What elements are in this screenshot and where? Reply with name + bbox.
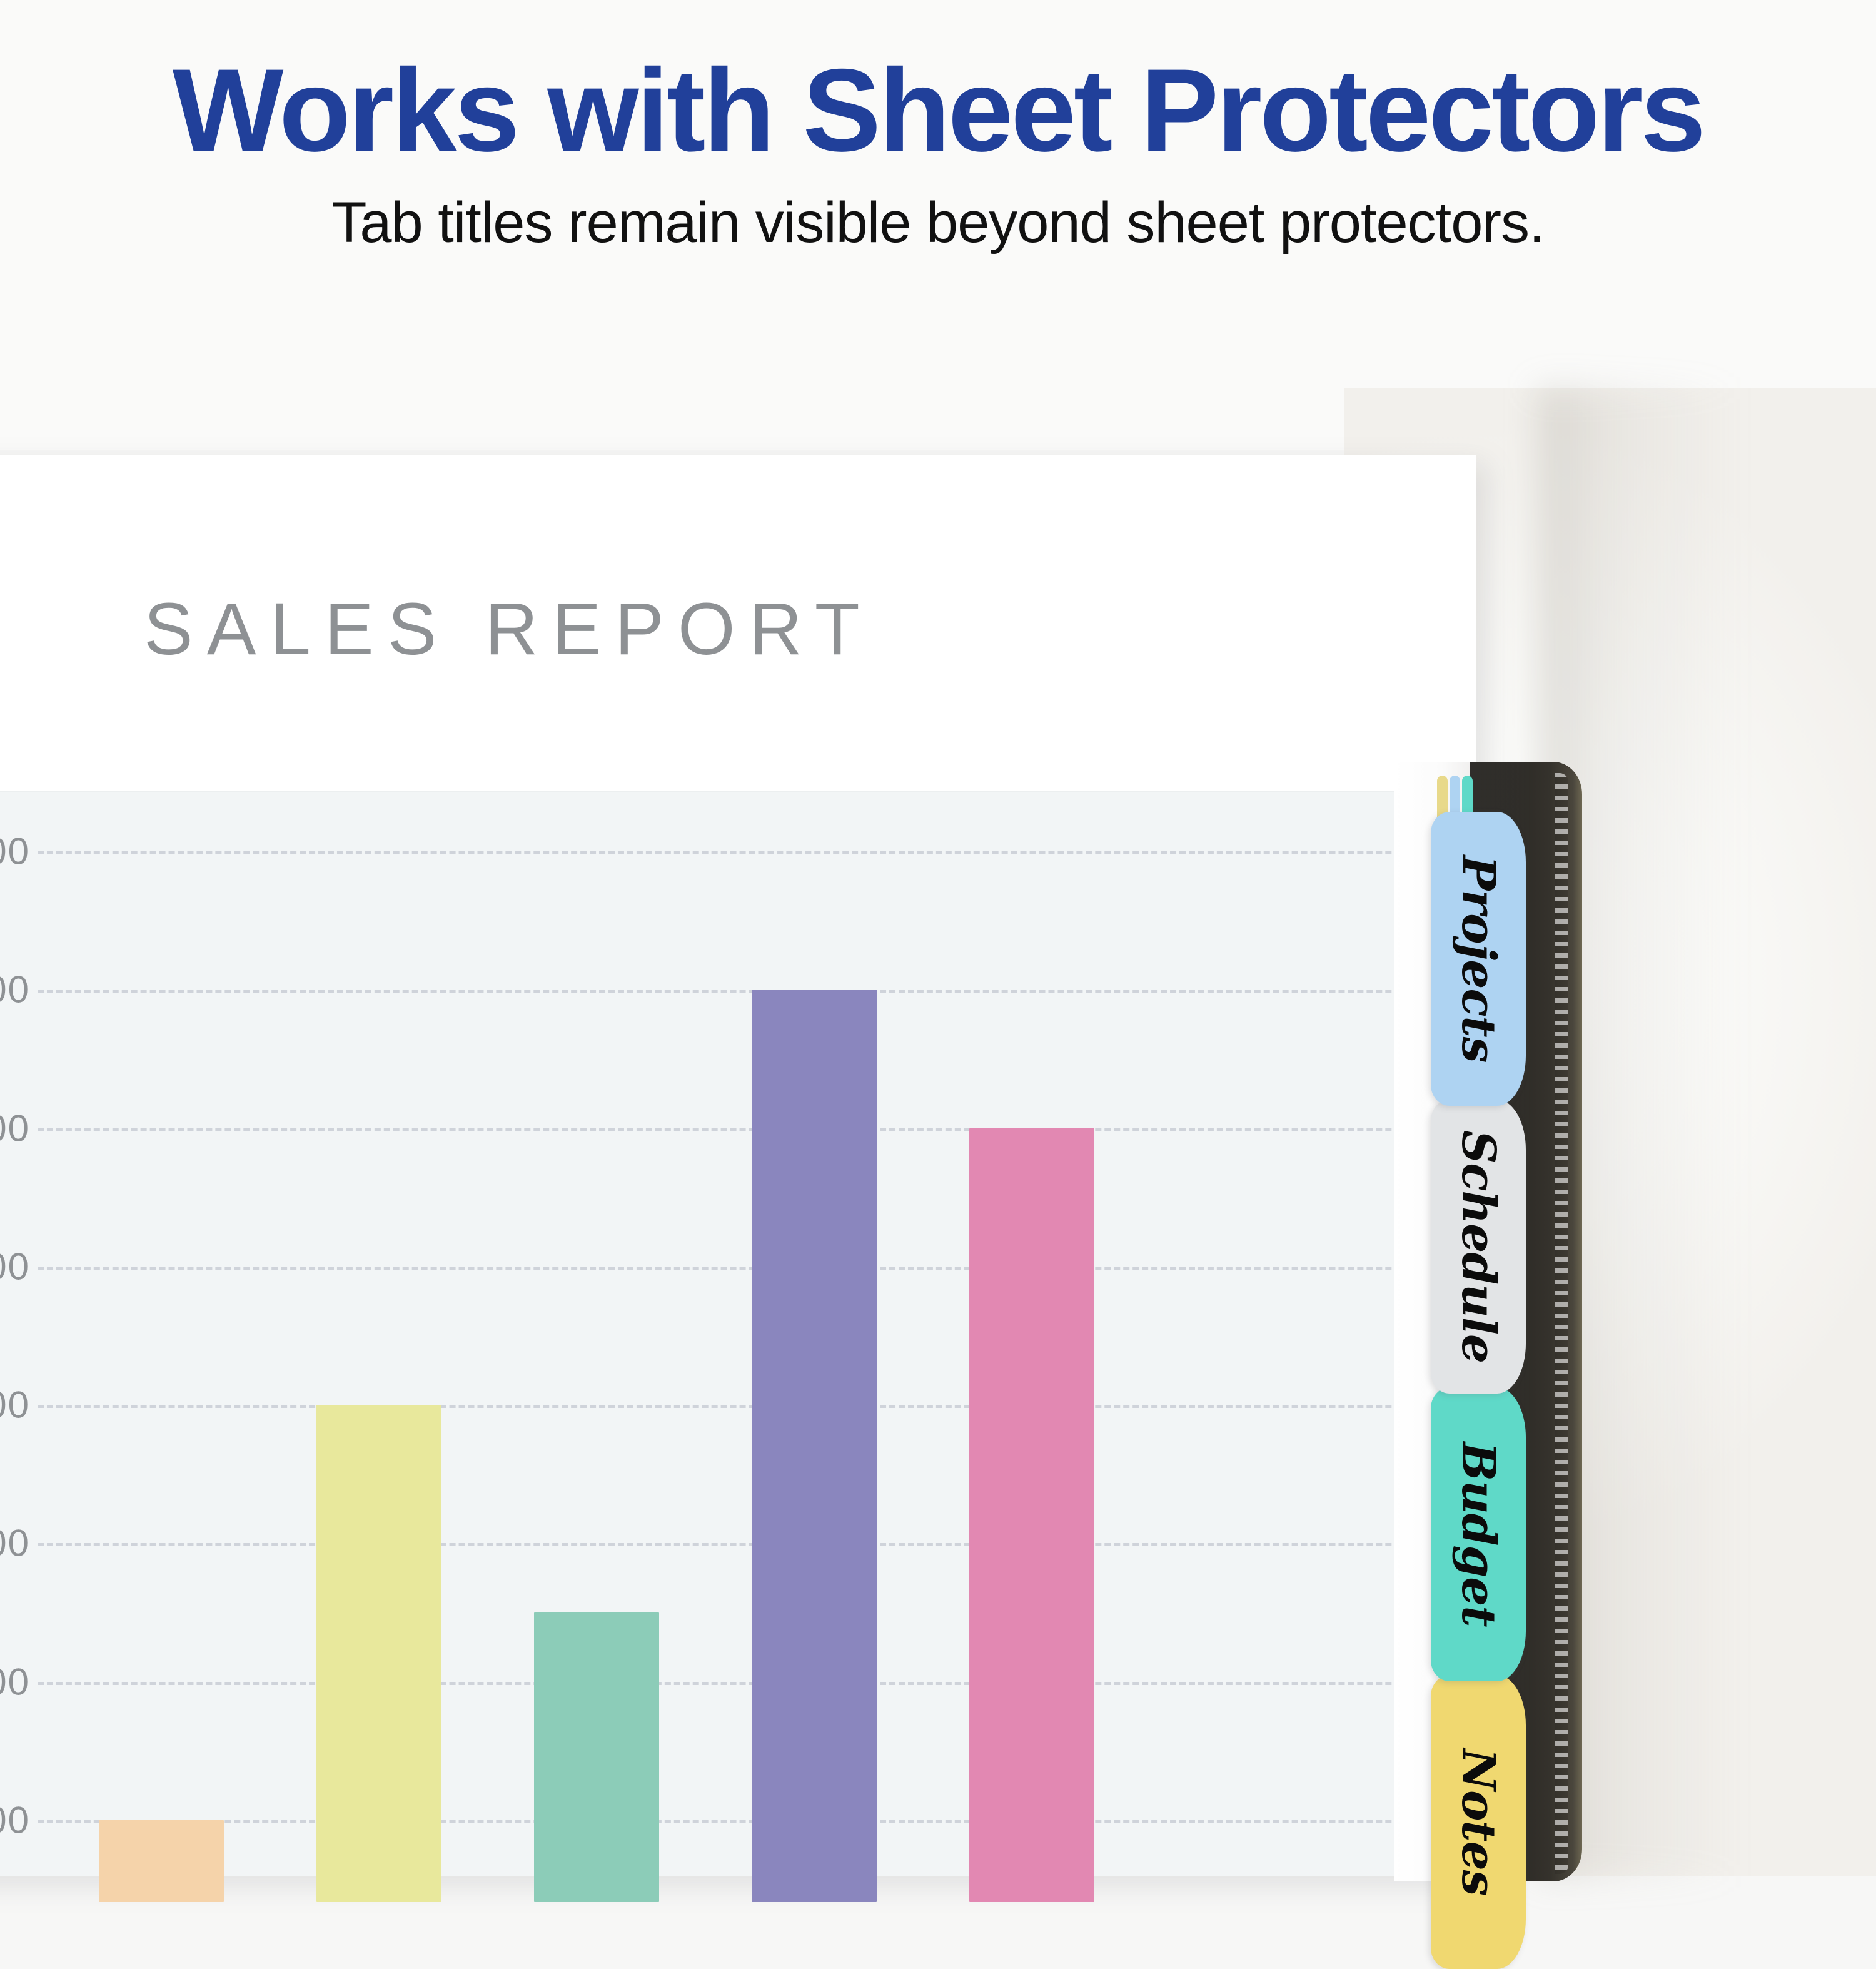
chart-bar [969, 1128, 1094, 1903]
chart-y-axis-label: 0,000 [0, 1384, 30, 1427]
divider-tab-label: Schedule [1451, 1130, 1505, 1363]
chart-y-axis-label: 0,000 [0, 1660, 30, 1703]
chart-y-axis-label: 0,000 [0, 1245, 30, 1288]
report-title: SALES REPORT [144, 587, 874, 672]
divider-tab-notes[interactable]: Notes [1431, 1675, 1526, 1969]
divider-tab-label: Projects [1451, 856, 1505, 1063]
chart-y-axis-label: 0,000 [0, 1106, 30, 1150]
binder-textured-edge [1555, 773, 1568, 1874]
bar-chart: 0,0000,0000,0000,0000,0000,0000,0000,000 [0, 792, 1476, 1877]
divider-tab-label: Notes [1451, 1749, 1505, 1896]
chart-bar [316, 1405, 441, 1902]
chart-y-axis-label: 0,000 [0, 830, 30, 873]
chart-panel: 0,0000,0000,0000,0000,0000,0000,0000,000 [0, 791, 1476, 1876]
binder: ProjectsScheduleBudgetNotes [1432, 762, 1582, 1881]
chart-y-axis-label: 0,000 [0, 968, 30, 1011]
chart-y-axis-label: 0,000 [0, 1522, 30, 1565]
divider-tab-budget[interactable]: Budget [1431, 1387, 1526, 1681]
report-sheet: SALES REPORT 0,0000,0000,0000,0000,0000,… [0, 455, 1476, 1876]
divider-tab-projects[interactable]: Projects [1431, 812, 1526, 1106]
chart-bar [99, 1820, 224, 1902]
chart-bar [534, 1612, 659, 1902]
product-photo: SALES REPORT 0,0000,0000,0000,0000,0000,… [0, 0, 1876, 1876]
divider-tab-schedule[interactable]: Schedule [1431, 1100, 1526, 1394]
chart-bar [752, 990, 877, 1902]
divider-tab-label: Budget [1451, 1442, 1505, 1626]
chart-gridline [38, 851, 1476, 854]
chart-y-axis-label: 0,000 [0, 1798, 30, 1841]
